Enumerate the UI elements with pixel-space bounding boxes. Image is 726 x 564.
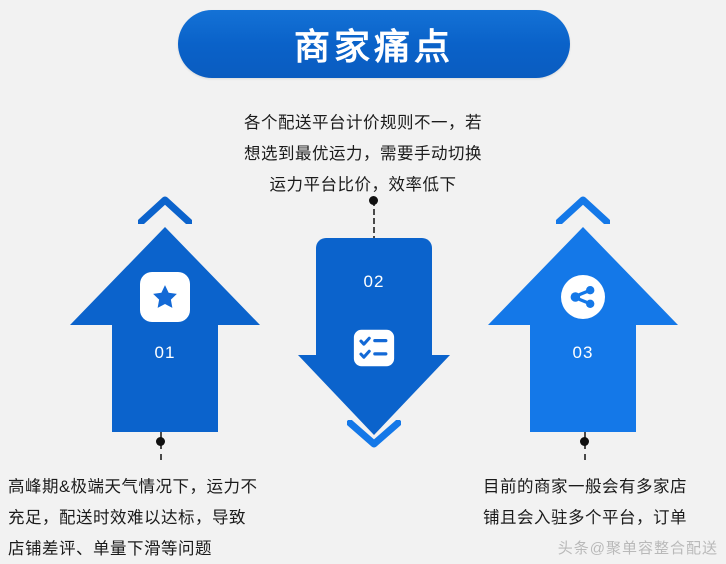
chevron-up-icon-01	[138, 196, 192, 224]
page-title: 商家痛点	[294, 18, 454, 70]
checklist-icon-badge	[349, 323, 399, 373]
chevron-down-icon-02	[347, 420, 401, 448]
connector-dot-item-03	[580, 437, 589, 446]
caption-item-03-line-1: 目前的商家一般会有多家店	[455, 472, 715, 503]
caption-item-01-line-1: 高峰期&极端天气情况下，运力不	[8, 472, 328, 503]
star-icon-badge	[140, 272, 190, 322]
checklist-icon	[351, 325, 397, 371]
caption-item-03-line-2: 铺且会入驻多个平台，订单	[455, 503, 715, 534]
arrow-01-shaft	[112, 324, 218, 432]
caption-item-03: 目前的商家一般会有多家店 铺且会入驻多个平台，订单	[455, 472, 715, 534]
caption-item-02: 各个配送平台计价规则不一，若 想选到最优运力，需要手动切换 运力平台比价，效率低…	[198, 108, 528, 201]
star-icon	[150, 282, 180, 312]
caption-item-01: 高峰期&极端天气情况下，运力不 充足，配送时效难以达标，导致 店铺差评、单量下滑…	[8, 472, 328, 564]
connector-line-item-02	[373, 200, 375, 242]
caption-item-02-line-3: 运力平台比价，效率低下	[198, 170, 528, 201]
connector-dot-item-02	[369, 196, 378, 205]
arrow-number-02: 02	[344, 272, 404, 292]
share-nodes-icon-badge	[558, 272, 608, 322]
arrow-number-01: 01	[135, 343, 195, 363]
arrow-up-03	[488, 227, 678, 432]
page-title-pill: 商家痛点	[178, 10, 570, 78]
watermark-text: 头条@聚单容整合配送	[558, 537, 718, 558]
arrow-up-01	[70, 227, 260, 432]
share-nodes-icon	[559, 273, 607, 321]
chevron-up-icon-03	[556, 196, 610, 224]
caption-item-01-line-2: 充足，配送时效难以达标，导致	[8, 503, 328, 534]
caption-item-01-line-3: 店铺差评、单量下滑等问题	[8, 534, 328, 564]
connector-dot-item-01	[156, 437, 165, 446]
arrow-03-shaft	[530, 324, 636, 432]
arrow-number-03: 03	[553, 343, 613, 363]
infographic-page: 商家痛点 各个配送平台计价规则不一，若 想选到最优运力，需要手动切换 运力平台比…	[0, 0, 726, 564]
caption-item-02-line-2: 想选到最优运力，需要手动切换	[198, 139, 528, 170]
caption-item-02-line-1: 各个配送平台计价规则不一，若	[198, 108, 528, 139]
